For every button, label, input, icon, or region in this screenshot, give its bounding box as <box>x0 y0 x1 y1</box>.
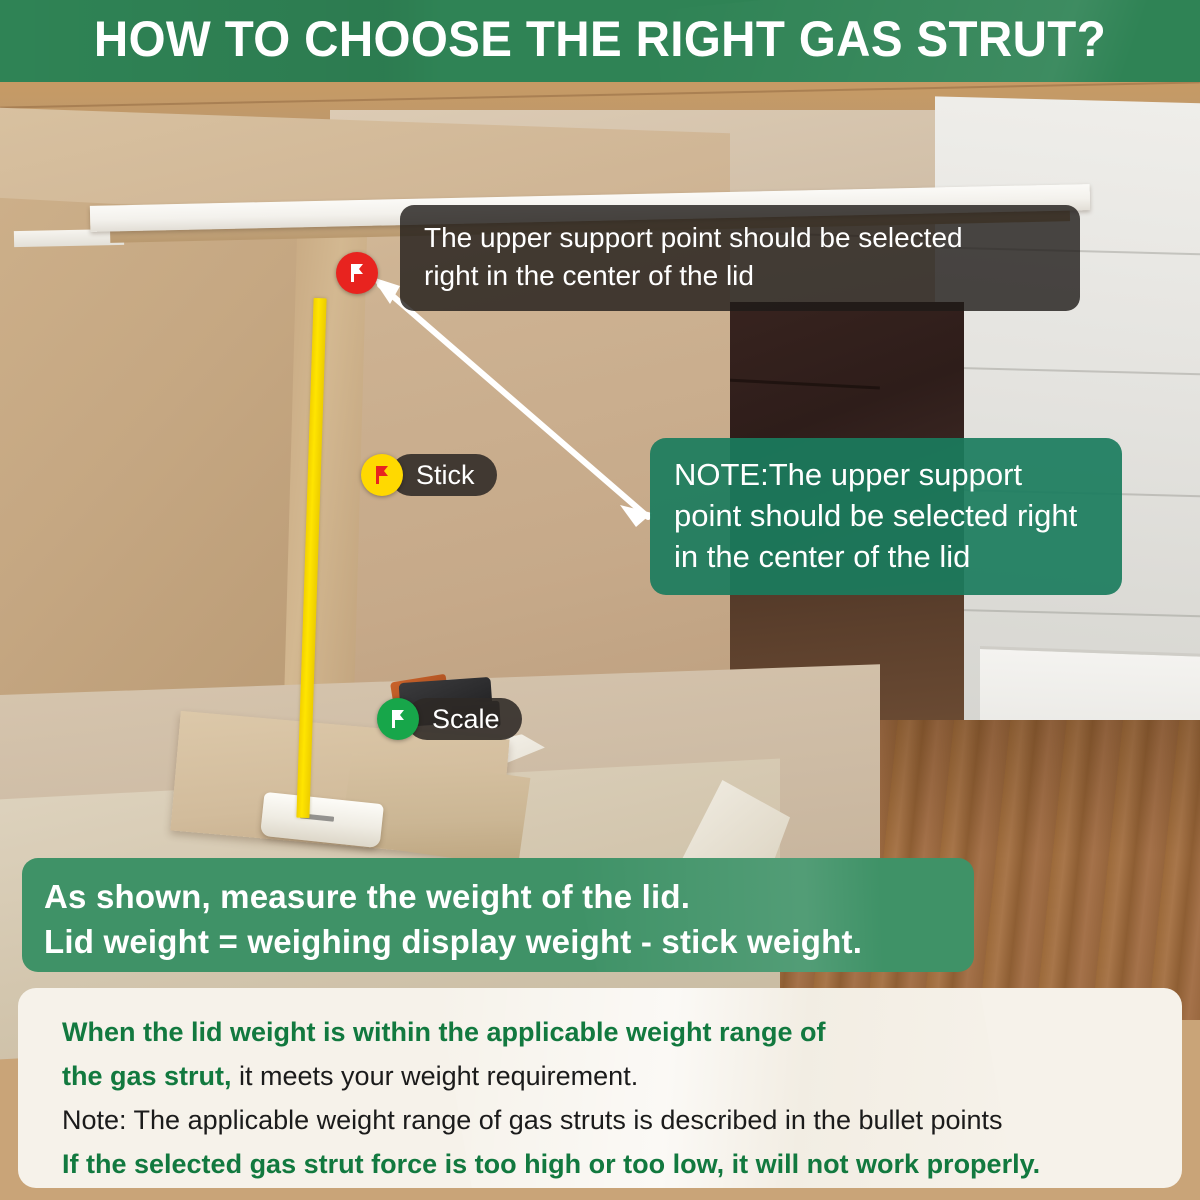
note-card-line4: If the selected gas strut force is too h… <box>62 1142 1156 1186</box>
marker-label-scale: Scale <box>406 698 522 740</box>
callout-note-line3: in the center of the lid <box>674 536 1100 577</box>
flag-icon <box>386 707 410 731</box>
note-card-line3: Note: The applicable weight range of gas… <box>62 1098 1156 1142</box>
marker-label-stick-text: Stick <box>416 460 475 491</box>
marker-stick[interactable] <box>361 454 403 496</box>
callout-note: NOTE:The upper support point should be s… <box>650 438 1122 595</box>
callout-upper-support: The upper support point should be select… <box>400 205 1080 311</box>
callout-upper-support-line2: right in the center of the lid <box>424 257 1058 295</box>
measure-instruction-line2: Lid weight = weighing display weight - s… <box>44 919 974 964</box>
marker-label-stick: Stick <box>390 454 497 496</box>
flag-icon <box>370 463 394 487</box>
note-card-line2-green: the gas strut, <box>62 1061 232 1091</box>
page-title: HOW TO CHOOSE THE RIGHT GAS STRUT? <box>30 6 1170 72</box>
header-banner: HOW TO CHOOSE THE RIGHT GAS STRUT? <box>0 0 1200 82</box>
callout-upper-support-line1: The upper support point should be select… <box>424 219 1058 257</box>
measure-instruction-line1: As shown, measure the weight of the lid. <box>44 874 974 919</box>
infographic-poster: HOW TO CHOOSE THE RIGHT GAS STRUT? <box>0 0 1200 1200</box>
callout-note-line1: NOTE:The upper support <box>674 454 1100 495</box>
marker-scale[interactable] <box>377 698 419 740</box>
weight-range-note-card: When the lid weight is within the applic… <box>18 988 1182 1188</box>
measure-instruction-panel: As shown, measure the weight of the lid.… <box>22 858 974 972</box>
note-card-line2-rest: it meets your weight requirement. <box>232 1061 639 1091</box>
marker-upper-support-point[interactable] <box>336 252 378 294</box>
flag-icon <box>345 261 369 285</box>
note-card-line1: When the lid weight is within the applic… <box>62 1010 1156 1054</box>
note-card-line2: the gas strut, it meets your weight requ… <box>62 1054 1156 1098</box>
lid-board-stub <box>14 229 124 247</box>
callout-note-line2: point should be selected right <box>674 495 1100 536</box>
marker-label-scale-text: Scale <box>432 704 500 735</box>
